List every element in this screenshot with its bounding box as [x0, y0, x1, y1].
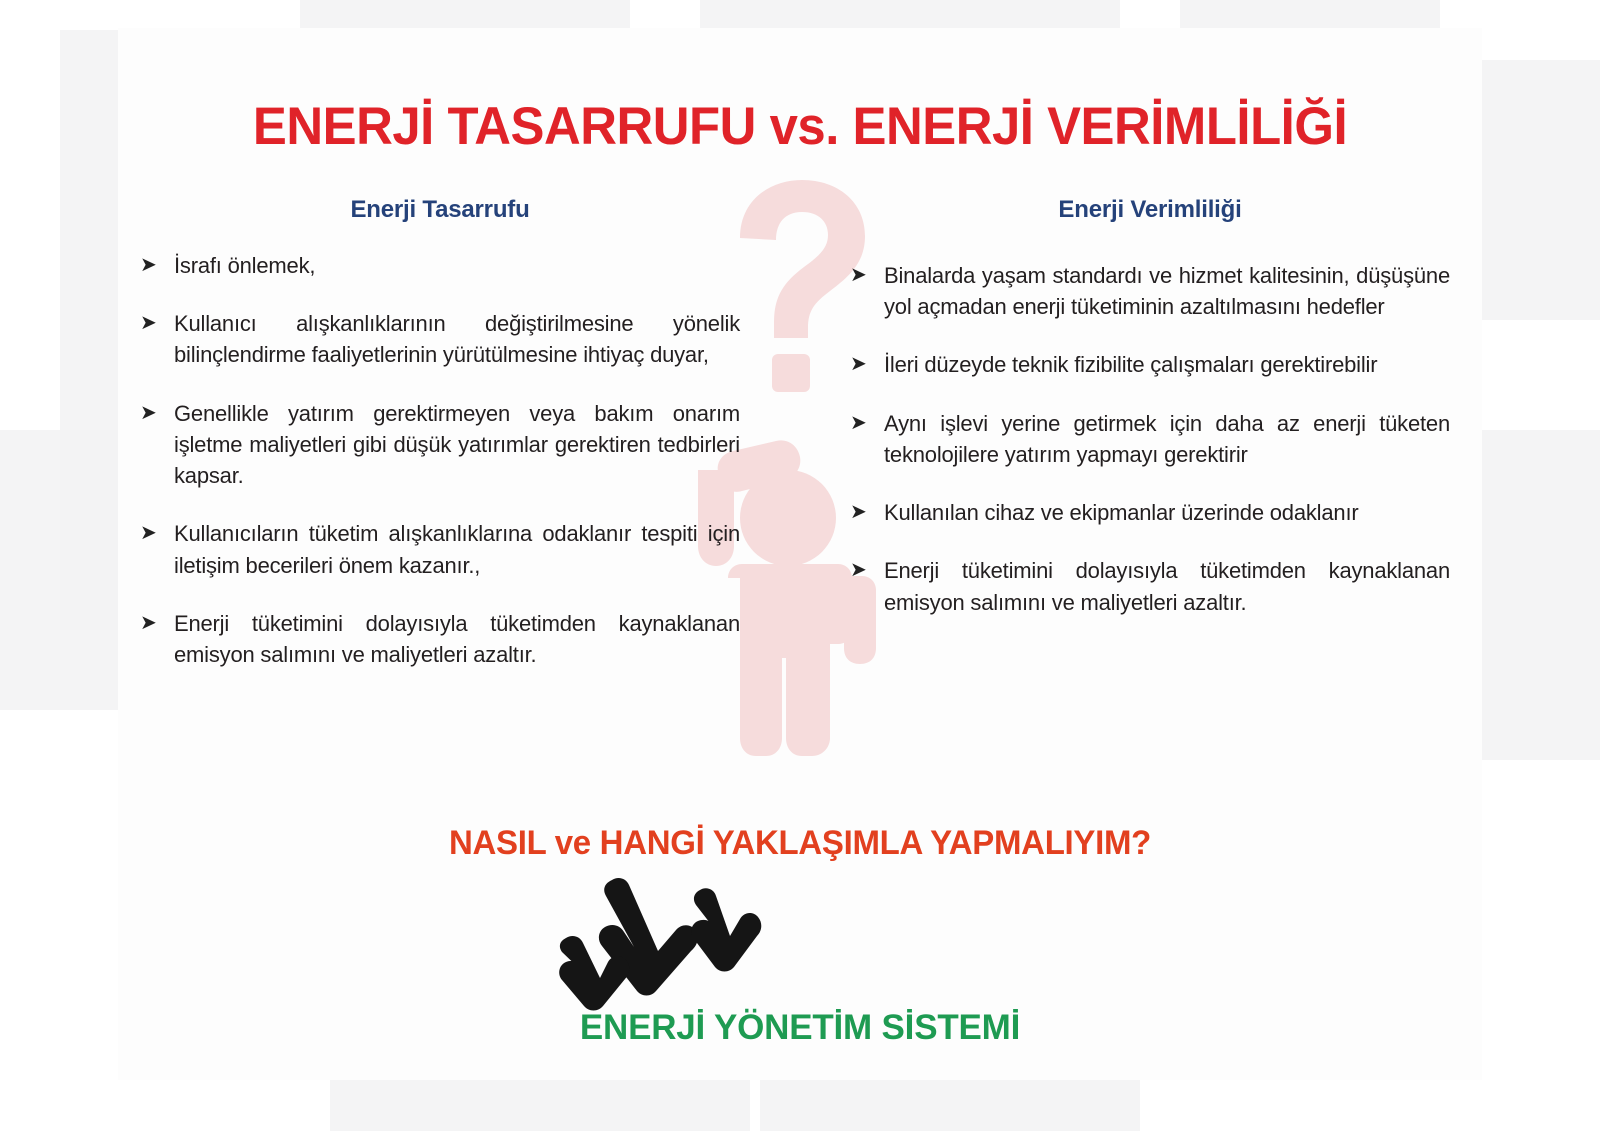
list-item-text: Binalarda yaşam standardı ve hizmet kali… [884, 260, 1450, 322]
list-item: ➤ Genellikle yatırım gerektirmeyen veya … [140, 398, 740, 492]
arrow-bullet-icon: ➤ [140, 308, 174, 337]
list-item: ➤ Kullanılan cihaz ve ekipmanlar üzerind… [850, 497, 1450, 528]
subtitle-question: NASIL ve HANGİ YAKLAŞIMLA YAPMALIYIM? [24, 824, 1576, 863]
list-item-text: İsrafı önlemek, [174, 250, 740, 281]
arrow-bullet-icon: ➤ [850, 408, 884, 437]
page-title: ENERJİ TASARRUFU vs. ENERJİ VERİMLİLİĞİ [32, 96, 1568, 157]
list-item: ➤ Aynı işlevi yerine getirmek için daha … [850, 408, 1450, 470]
arrow-bullet-icon: ➤ [140, 518, 174, 547]
column-enerji-tasarrufu: Enerji Tasarrufu ➤ İsrafı önlemek, ➤ Kul… [140, 196, 740, 697]
list-item: ➤ Kullanıcı alışkanlıklarının değiştiril… [140, 308, 740, 370]
list-item: ➤ Kullanıcıların tüketim alışkanlıkların… [140, 518, 740, 580]
list-item-text: Genellikle yatırım gerektirmeyen veya ba… [174, 398, 740, 492]
arrow-bullet-icon: ➤ [140, 398, 174, 427]
list-item-text: Enerji tüketimini dolayısıyla tüketimden… [884, 555, 1450, 617]
slide-root: ENERJİ TASARRUFU vs. ENERJİ VERİMLİLİĞİ … [0, 0, 1600, 1131]
arrow-bullet-icon: ➤ [850, 555, 884, 584]
list-item-text: İleri düzeyde teknik fizibilite çalışmal… [884, 349, 1450, 380]
list-item: ➤ Enerji tüketimini dolayısıyla tüketimd… [140, 608, 740, 670]
arrow-bullet-icon: ➤ [850, 260, 884, 289]
three-hand-drawn-down-arrows-icon [548, 872, 778, 1012]
list-item-text: Kullanılan cihaz ve ekipmanlar üzerinde … [884, 497, 1450, 528]
arrow-bullet-icon: ➤ [850, 497, 884, 526]
list-item-text: Aynı işlevi yerine getirmek için daha az… [884, 408, 1450, 470]
list-item: ➤ İsrafı önlemek, [140, 250, 740, 281]
list-item: ➤ İleri düzeyde teknik fizibilite çalışm… [850, 349, 1450, 380]
column-heading-right: Enerji Verimliliği [850, 196, 1450, 224]
column-enerji-verimliligi: Enerji Verimliliği ➤ Binalarda yaşam sta… [850, 196, 1450, 645]
footer-label-energy-management-system: ENERJİ YÖNETİM SİSTEMİ [0, 1008, 1600, 1048]
column-heading-left: Enerji Tasarrufu [140, 196, 740, 224]
list-item-text: Kullanıcı alışkanlıklarının değiştirilme… [174, 308, 740, 370]
list-item-text: Enerji tüketimini dolayısıyla tüketimden… [174, 608, 740, 670]
list-item: ➤ Binalarda yaşam standardı ve hizmet ka… [850, 260, 1450, 322]
list-item-text: Kullanıcıların tüketim alışkanlıklarına … [174, 518, 740, 580]
list-item: ➤ Enerji tüketimini dolayısıyla tüketimd… [850, 555, 1450, 617]
arrow-bullet-icon: ➤ [140, 608, 174, 637]
arrow-bullet-icon: ➤ [850, 349, 884, 378]
arrow-bullet-icon: ➤ [140, 250, 174, 279]
